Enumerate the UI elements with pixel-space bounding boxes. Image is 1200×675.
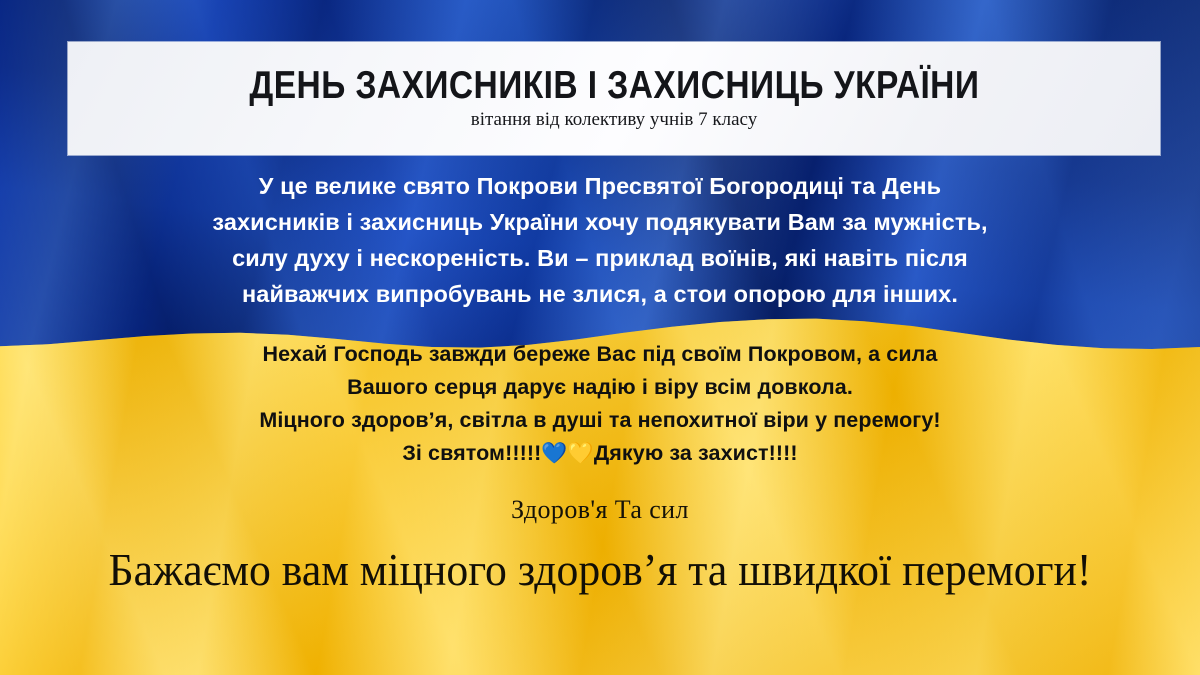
message-yellow-line-4: Зі святом!!!!!💙💛Дякую за захист!!!! [190,437,1010,470]
greeting-poster: ДЕНЬ ЗАХИСНИКІВ І ЗАХИСНИЦЬ УКРАЇНИ віта… [0,0,1200,675]
message-yellow-line-3: Міцного здоров’я, світла в душі та непох… [190,404,1010,437]
message-yellow-line-2: Вашого серця дарує надію і віру всім дов… [190,371,1010,404]
message-paragraph-yellow: Нехай Господь завжди береже Вас під свої… [190,338,1010,470]
message-yellow-line-1: Нехай Господь завжди береже Вас під свої… [190,338,1010,371]
page-title: ДЕНЬ ЗАХИСНИКІВ І ЗАХИСНИЦЬ УКРАЇНИ [249,66,979,106]
page-subtitle: вітання від колективу учнів 7 класу [471,109,757,131]
header-banner: ДЕНЬ ЗАХИСНИКІВ І ЗАХИСНИЦЬ УКРАЇНИ віта… [68,42,1160,155]
yellow-heart-icon: 💛 [568,442,594,465]
thanks-text: Дякую за захист!!!! [594,441,798,465]
closing-wish-big: Бажаємо вам міцного здоров’я та швидкої … [30,543,1170,596]
message-paragraph-blue: У це велике свято Покрови Пресвятої Бого… [200,168,1000,312]
congratulation-text: Зі святом!!!!! [402,441,541,465]
blue-heart-icon: 💙 [541,442,567,465]
closing-wish-small: Здоров'я Та сил [0,495,1200,525]
